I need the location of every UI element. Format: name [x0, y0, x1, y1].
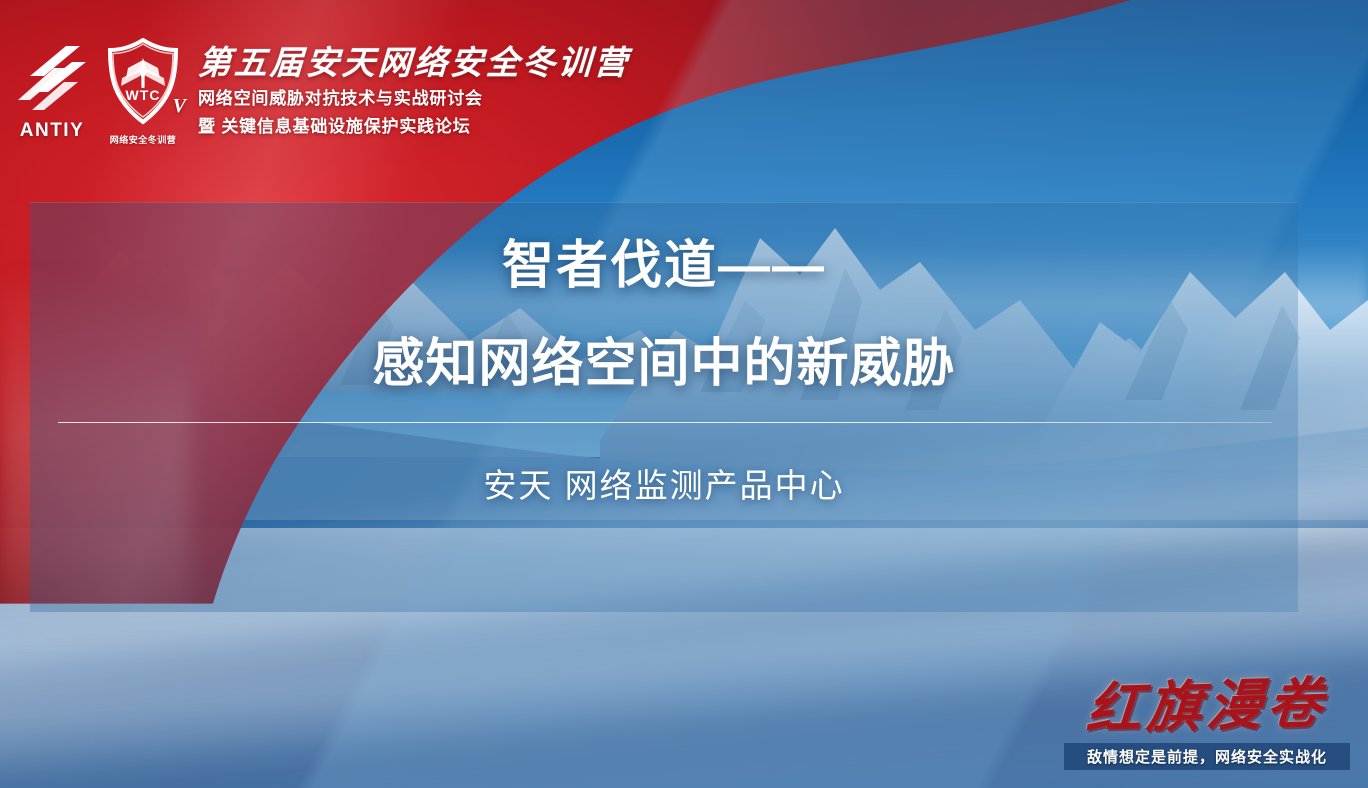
edition-numeral: V [173, 95, 186, 118]
event-subtitle-line-1: 网络空间威胁对抗技术与实战研讨会 [198, 87, 630, 111]
antiy-logo: ANTIY [14, 42, 90, 142]
event-main-title: 第五届安天网络安全冬训营 [197, 46, 631, 83]
shield-caption: 网络安全冬训营 [102, 133, 184, 146]
svg-text:WTC: WTC [126, 87, 161, 103]
title-divider [58, 422, 1272, 423]
presentation-slide: ANTIY WTC V 网络安全冬训营 [0, 0, 1368, 788]
slide-title-line-2: 感知网络空间中的新威胁 [372, 331, 955, 399]
antiy-wordmark: ANTIY [14, 120, 90, 142]
brand-tagline: 敌情想定是前提，网络安全实战化 [1064, 743, 1350, 770]
presenter-label: 安天 网络监测产品中心 [30, 459, 1298, 507]
event-subtitle-line-2: 暨 关键信息基础设施保护实践论坛 [198, 115, 630, 139]
brand-calligraphy: 红旗漫卷 [1061, 675, 1352, 737]
slide-title-line-1: 智者伐道—— [502, 233, 826, 301]
title-panel: 智者伐道—— 感知网络空间中的新威胁 安天 网络监测产品中心 [30, 202, 1298, 612]
campaign-brand: 红旗漫卷 敌情想定是前提，网络安全实战化 [1064, 679, 1350, 770]
snow-crystal-icon [121, 58, 165, 88]
event-header: ANTIY WTC V 网络安全冬训营 [0, 0, 630, 150]
antiy-wing-icon [14, 42, 90, 116]
event-title-block: 第五届安天网络安全冬训营 网络空间威胁对抗技术与实战研讨会 暨 关键信息基础设施… [198, 44, 630, 139]
wtc-shield-logo: WTC V 网络安全冬训营 [102, 38, 184, 146]
